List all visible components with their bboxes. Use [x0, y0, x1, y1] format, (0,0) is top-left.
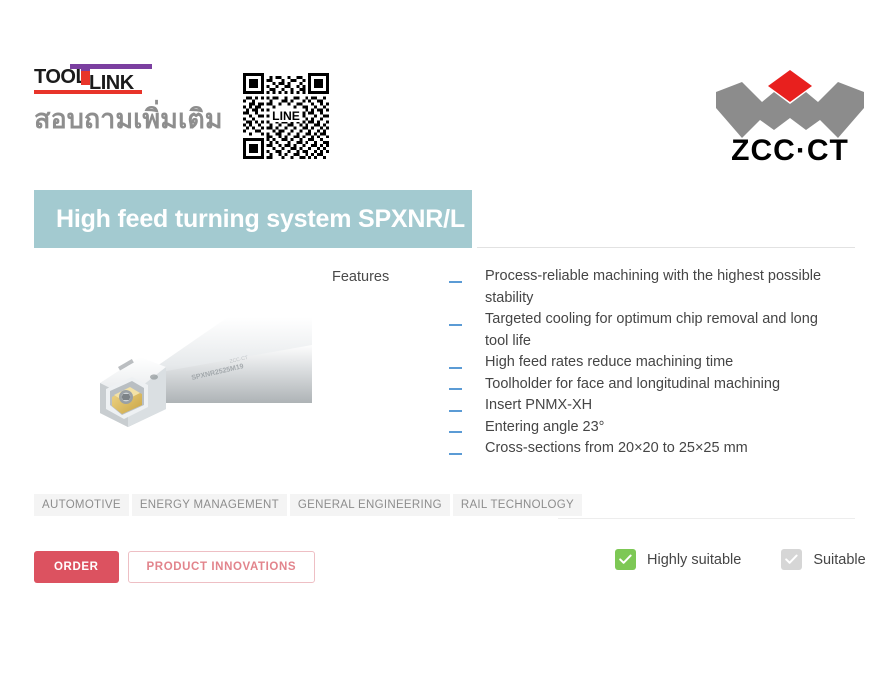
- page-title: High feed turning system SPXNR/L: [34, 205, 465, 234]
- page-header: TOOL LINK สอบถามเพิ่มเติม: [0, 0, 889, 180]
- toollink-brand-block: TOOL LINK: [34, 62, 234, 96]
- legend-label: Highly suitable: [647, 552, 741, 568]
- action-buttons: ORDER PRODUCT INNOVATIONS: [34, 551, 315, 583]
- feature-text: Process-reliable machining with the high…: [485, 266, 827, 309]
- suitability-legend: Highly suitable Suitable: [615, 549, 866, 570]
- check-icon: [785, 554, 798, 565]
- product-title-banner: High feed turning system SPXNR/L: [34, 190, 472, 248]
- dash-bullet-icon: [449, 352, 485, 374]
- legend-label: Suitable: [813, 552, 865, 568]
- feature-item: Cross-sections from 20×20 to 25×25 mm: [449, 438, 849, 460]
- header-divider: [477, 247, 855, 248]
- dash-bullet-icon: [449, 266, 485, 288]
- logo-word-tool: TOOL: [34, 66, 87, 89]
- tag-rail-technology[interactable]: RAIL TECHNOLOGY: [453, 494, 582, 516]
- features-label: Features: [332, 269, 389, 285]
- product-datasheet-page: TOOL LINK สอบถามเพิ่มเติม: [0, 0, 889, 692]
- toollink-logo[interactable]: TOOL LINK: [34, 62, 152, 96]
- feature-text: High feed rates reduce machining time: [485, 352, 827, 374]
- zcc-ct-wordmark: ZCC·CT: [731, 134, 849, 165]
- zcc-ct-logo-icon: ZCC·CT: [712, 60, 868, 165]
- feature-item: Entering angle 23°: [449, 417, 849, 439]
- product-image: SPXNR2525M19 ZCC·CT: [62, 305, 312, 460]
- dash-bullet-icon: [449, 438, 485, 460]
- zcc-ct-logo[interactable]: ZCC·CT: [712, 60, 868, 165]
- checkbox-checked-green-icon[interactable]: [615, 549, 636, 570]
- tag-general-engineering[interactable]: GENERAL ENGINEERING: [290, 494, 450, 516]
- tag-energy-management[interactable]: ENERGY MANAGEMENT: [132, 494, 287, 516]
- feature-item: Targeted cooling for optimum chip remova…: [449, 309, 849, 352]
- feature-item: Process-reliable machining with the high…: [449, 266, 849, 309]
- line-qr-code[interactable]: LINE: [243, 73, 329, 159]
- dash-bullet-icon: [449, 417, 485, 439]
- svg-text:LINE: LINE: [272, 109, 300, 123]
- dash-bullet-icon: [449, 309, 485, 331]
- dash-bullet-icon: [449, 374, 485, 396]
- feature-text: Insert PNMX-XH: [485, 395, 827, 417]
- turning-toolholder-illustration: SPXNR2525M19 ZCC·CT: [62, 305, 312, 460]
- feature-item: Toolholder for face and longitudinal mac…: [449, 374, 849, 396]
- tag-automotive[interactable]: AUTOMOTIVE: [34, 494, 129, 516]
- industry-tags: AUTOMOTIVE ENERGY MANAGEMENT GENERAL ENG…: [34, 494, 582, 516]
- product-innovations-button[interactable]: PRODUCT INNOVATIONS: [128, 551, 316, 583]
- qr-code-icon: LINE: [243, 73, 329, 159]
- feature-item: Insert PNMX-XH: [449, 395, 849, 417]
- feature-item: High feed rates reduce machining time: [449, 352, 849, 374]
- feature-text: Entering angle 23°: [485, 417, 827, 439]
- features-list: Process-reliable machining with the high…: [449, 266, 849, 460]
- feature-text: Targeted cooling for optimum chip remova…: [485, 309, 827, 352]
- tags-divider: [558, 518, 855, 519]
- legend-item-suitable: Suitable: [781, 549, 865, 570]
- legend-item-highly-suitable: Highly suitable: [615, 549, 741, 570]
- checkbox-checked-grey-icon[interactable]: [781, 549, 802, 570]
- feature-text: Toolholder for face and longitudinal mac…: [485, 374, 827, 396]
- thai-caption: สอบถามเพิ่มเติม: [34, 97, 223, 140]
- logo-word-link: LINK: [89, 72, 134, 95]
- dash-bullet-icon: [449, 395, 485, 417]
- check-icon: [619, 554, 632, 565]
- feature-text: Cross-sections from 20×20 to 25×25 mm: [485, 438, 827, 460]
- order-button[interactable]: ORDER: [34, 551, 119, 583]
